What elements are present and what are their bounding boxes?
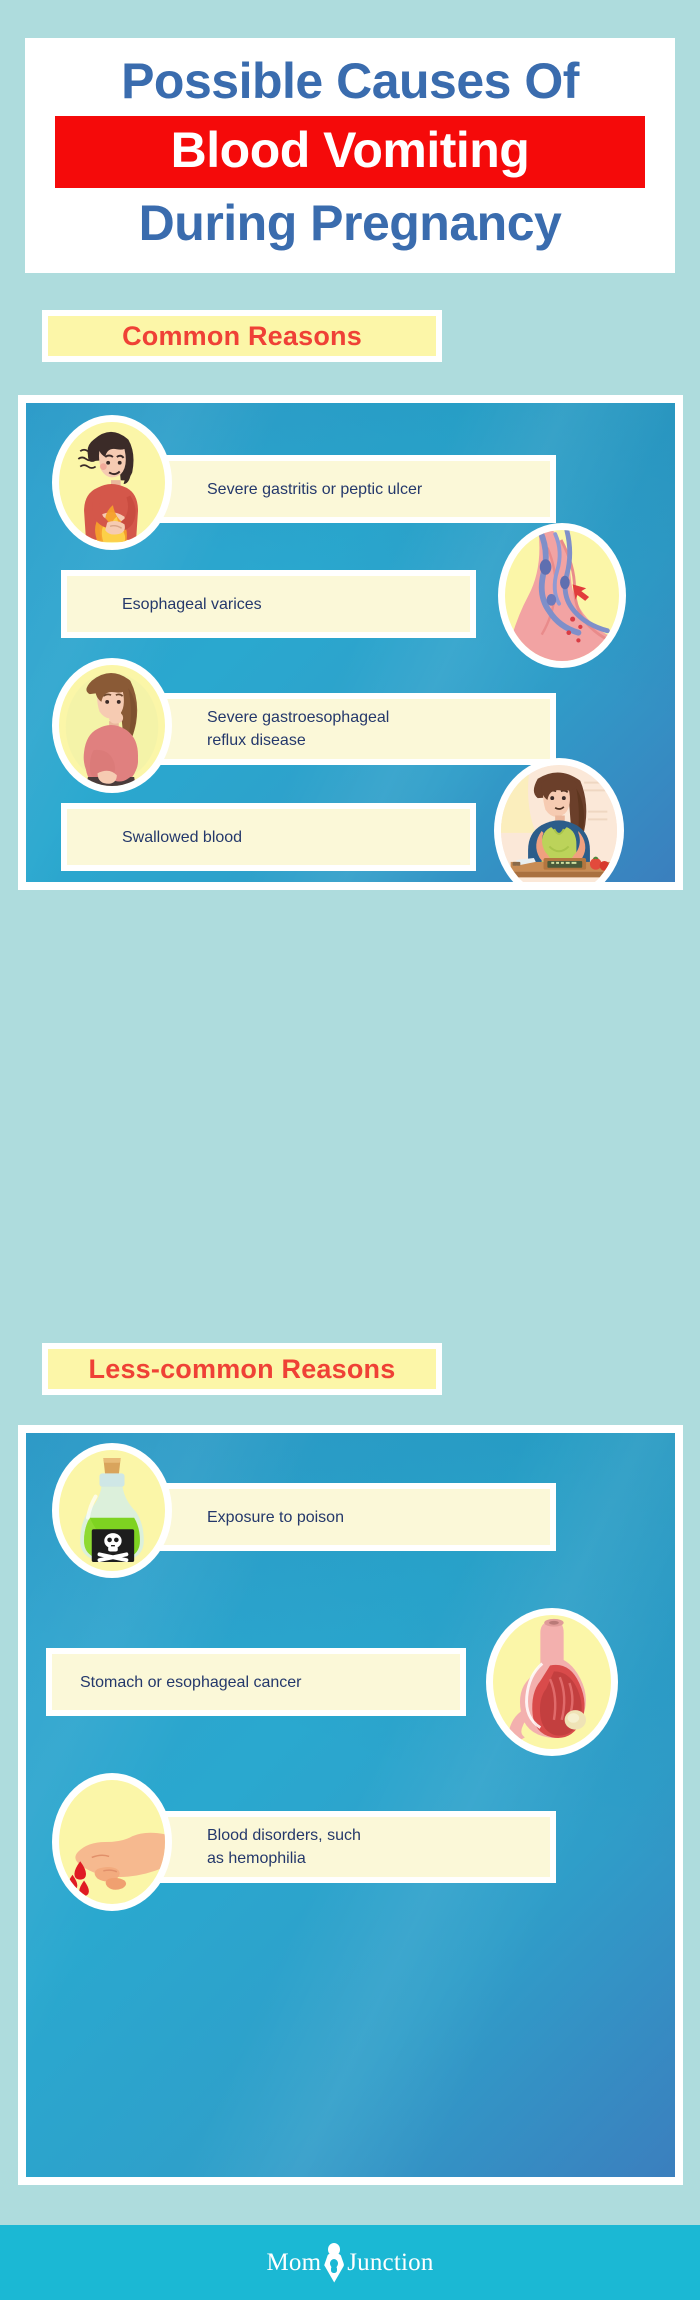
woman-cooking-icon bbox=[494, 758, 624, 882]
woman-cooking-icon-inner bbox=[501, 765, 617, 882]
section-banner-common-label: Common Reasons bbox=[122, 321, 362, 352]
title-line-3: During Pregnancy bbox=[25, 190, 675, 256]
common-reasons-panel: Severe gastritis or peptic ulcer bbox=[18, 395, 683, 890]
list-item-inner: Severe gastritis or peptic ulcer bbox=[152, 461, 550, 517]
momjunction-logo[interactable]: Mom Junction bbox=[266, 2243, 433, 2283]
woman-stomach-pain-icon-inner bbox=[59, 422, 165, 543]
list-item[interactable]: Blood disorders, such as hemophilia bbox=[146, 1811, 556, 1883]
section-banner-less-common-inner: Less-common Reasons bbox=[48, 1349, 436, 1389]
list-item-label: Exposure to poison bbox=[207, 1506, 344, 1529]
logo-baby-shape bbox=[330, 2259, 338, 2268]
less-common-reasons-panel-inner: Exposure to poison bbox=[26, 1433, 675, 2177]
section-banner-less-common-label: Less-common Reasons bbox=[89, 1354, 396, 1385]
pregnant-woman-nausea-icon bbox=[52, 658, 172, 793]
esophageal-varices-icon-inner bbox=[505, 530, 619, 661]
poison-bottle-icon-inner bbox=[59, 1450, 165, 1571]
list-item-label: Severe gastroesophageal reflux disease bbox=[207, 706, 389, 752]
list-item-inner: Blood disorders, such as hemophilia bbox=[152, 1817, 550, 1877]
poison-bottle-icon bbox=[52, 1443, 172, 1578]
list-item-inner: Esophageal varices bbox=[67, 576, 470, 632]
list-item-label: Swallowed blood bbox=[122, 826, 242, 849]
list-item-label: Esophageal varices bbox=[122, 593, 262, 616]
woman-stomach-pain-icon bbox=[52, 415, 172, 550]
momjunction-mother-baby-icon bbox=[323, 2243, 345, 2283]
section-banner-less-common: Less-common Reasons bbox=[42, 1343, 442, 1395]
bleeding-hand-icon bbox=[52, 1773, 172, 1911]
list-item-inner: Severe gastroesophageal reflux disease bbox=[152, 699, 550, 759]
list-item[interactable]: Severe gastritis or peptic ulcer bbox=[146, 455, 556, 523]
list-item[interactable]: Severe gastroesophageal reflux disease bbox=[146, 693, 556, 765]
list-item-label: Stomach or esophageal cancer bbox=[80, 1671, 301, 1694]
list-item-inner: Stomach or esophageal cancer bbox=[52, 1654, 460, 1710]
title-card: Possible Causes Of Blood Vomiting During… bbox=[25, 38, 675, 273]
list-item[interactable]: Swallowed blood bbox=[61, 803, 476, 871]
brand-name-part1: Mom bbox=[266, 2249, 321, 2277]
list-item-inner: Swallowed blood bbox=[67, 809, 470, 865]
pregnant-woman-nausea-icon-inner bbox=[59, 665, 165, 786]
stomach-cancer-icon bbox=[486, 1608, 618, 1756]
list-item-label: Blood disorders, such as hemophilia bbox=[207, 1824, 361, 1870]
less-common-reasons-panel: Exposure to poison bbox=[18, 1425, 683, 2185]
section-banner-common: Common Reasons bbox=[42, 310, 442, 362]
list-item-inner: Exposure to poison bbox=[152, 1489, 550, 1545]
esophageal-varices-icon bbox=[498, 523, 626, 668]
bleeding-hand-icon-inner bbox=[59, 1780, 165, 1904]
common-reasons-panel-inner: Severe gastritis or peptic ulcer bbox=[26, 403, 675, 882]
title-line-1: Possible Causes Of bbox=[25, 48, 675, 114]
list-item[interactable]: Exposure to poison bbox=[146, 1483, 556, 1551]
brand-name-part2: Junction bbox=[347, 2249, 433, 2277]
title-line-2-highlight: Blood Vomiting bbox=[55, 116, 645, 188]
footer-bar: Mom Junction bbox=[0, 2225, 700, 2300]
section-banner-common-inner: Common Reasons bbox=[48, 316, 436, 356]
list-item[interactable]: Stomach or esophageal cancer bbox=[46, 1648, 466, 1716]
list-item[interactable]: Esophageal varices bbox=[61, 570, 476, 638]
stomach-cancer-icon-inner bbox=[493, 1615, 611, 1749]
infographic-page: Possible Causes Of Blood Vomiting During… bbox=[0, 0, 700, 2300]
list-item-label: Severe gastritis or peptic ulcer bbox=[207, 478, 422, 501]
